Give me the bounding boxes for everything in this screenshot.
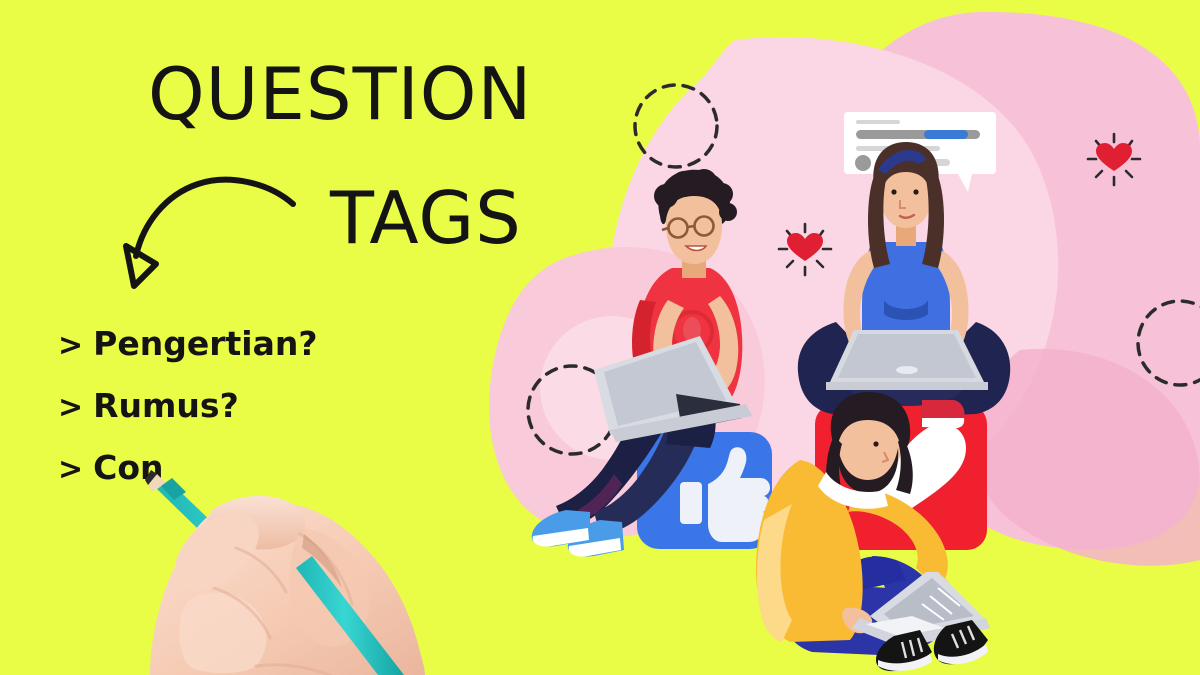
hand-holding-pencil	[0, 0, 1200, 675]
slide-canvas: QUESTION TAGS > Pengertian? > Rumus? > C…	[0, 0, 1200, 675]
